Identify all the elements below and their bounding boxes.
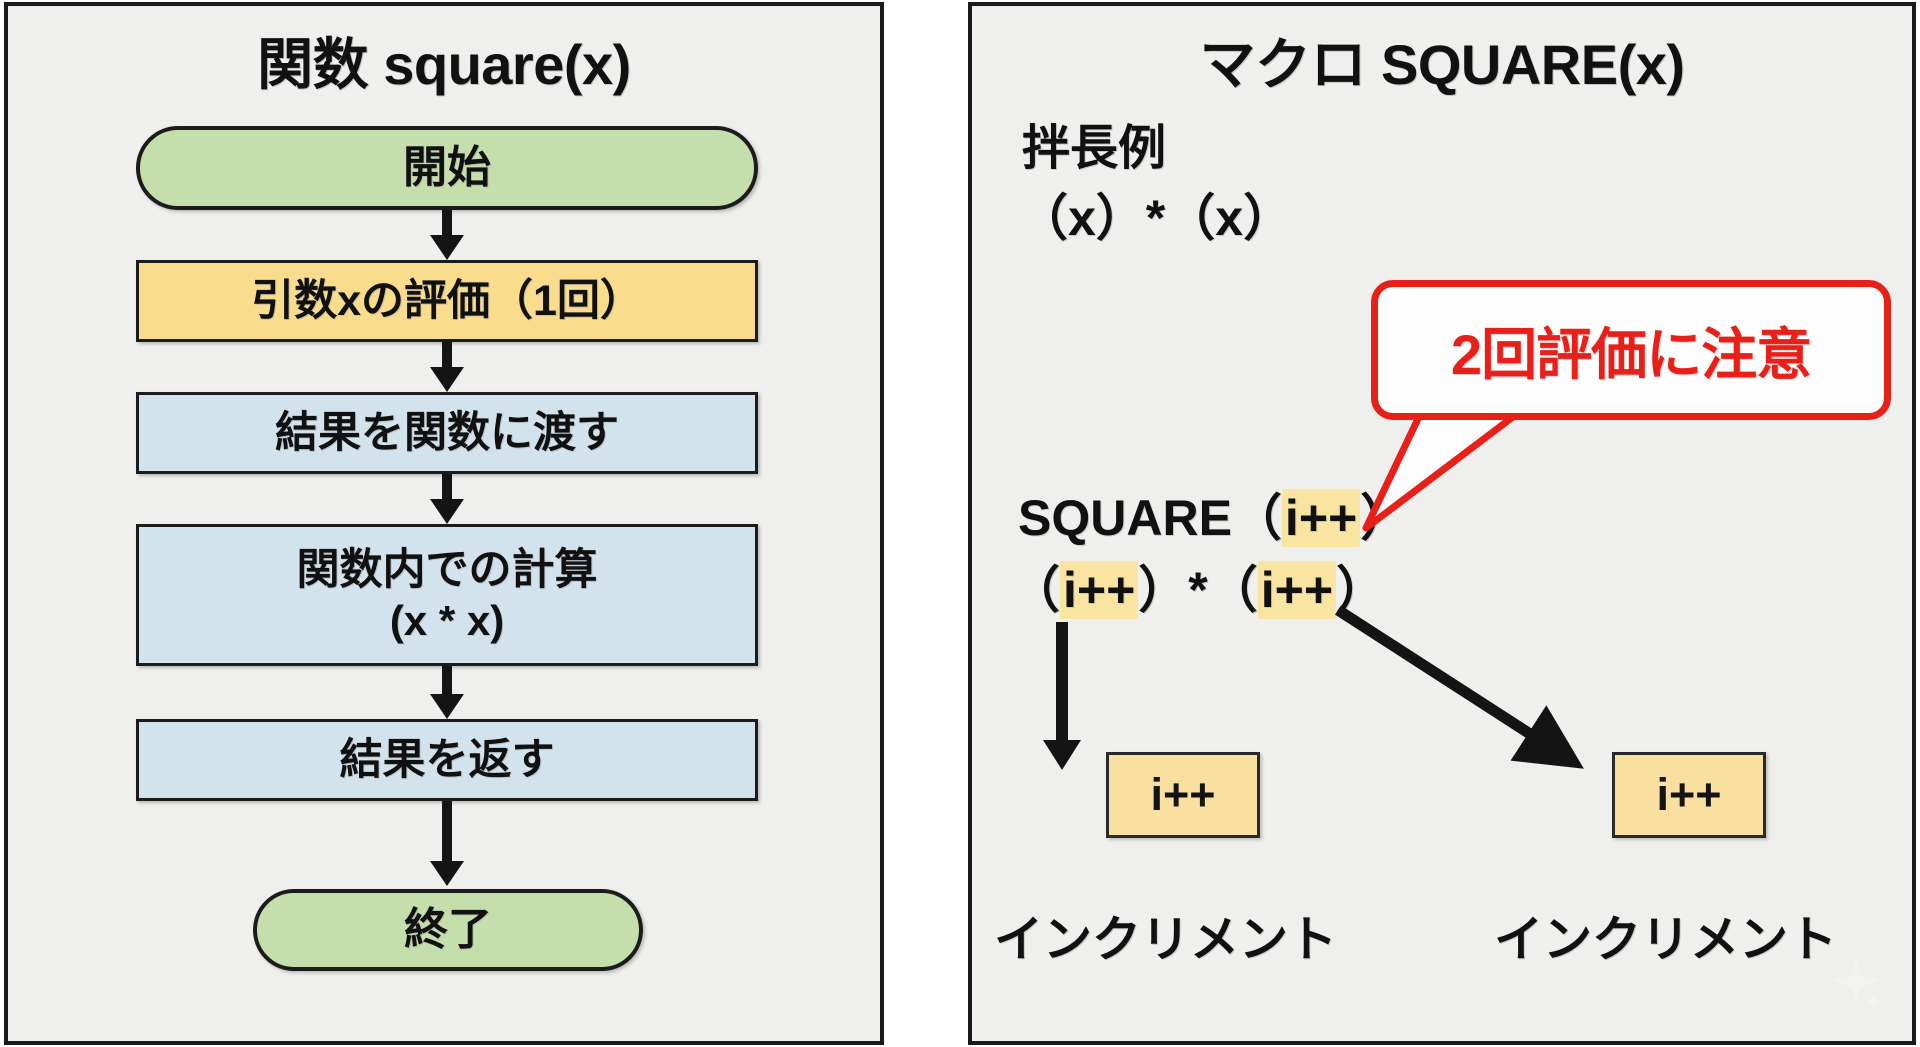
flow-node-start: 開始 [136,126,758,210]
increment-label-right: インクリメント [1494,900,1837,971]
flow-node-pass-to-function-label: 結果を関数に渡す [275,408,619,459]
increment-result-chip-left-label: i++ [1150,769,1215,821]
flow-node-return-result: 結果を返す [136,719,758,801]
increment-result-chip-left: i++ [1106,752,1260,838]
panel-title-function: 関数 square(x) [8,20,880,101]
verbose-example-expression: （x）*（x） [1018,178,1293,250]
expand-open-paren: （ [1010,562,1060,618]
flow-node-calculation-expression: (x * x) [390,596,504,646]
expand-token-a: i++ [1060,561,1138,619]
flow-node-start-label: 開始 [403,142,491,194]
flow-node-calculation: 関数内での計算 (x * x) [136,524,758,666]
macro-call-expression: SQUARE（i++） [1018,478,1410,550]
macro-call-suffix: ） [1360,490,1410,546]
expand-token-b: i++ [1258,561,1336,619]
verbose-example-label: 拌長例 [1022,108,1166,178]
increment-label-left: インクリメント [994,900,1337,971]
macro-call-prefix: SQUARE（ [1018,490,1282,546]
flow-node-pass-to-function: 結果を関数に渡す [136,392,758,474]
macro-call-token: i++ [1282,489,1360,547]
warning-callout-text: 2回評価に注意 [1451,310,1811,391]
diagram-canvas: 関数 square(x) 開始 引数xの評価（1回） 結果を関数に渡す [0,0,1920,1047]
sparkle-icon [1830,955,1882,1007]
flow-node-calculation-label: 関数内での計算 [297,545,598,596]
function-flow-panel: 関数 square(x) 開始 引数xの評価（1回） 結果を関数に渡す [4,2,884,1045]
warning-callout: 2回評価に注意 [1371,280,1891,420]
flow-node-end-label: 終了 [404,904,492,956]
panel-title-macro: マクロ SQUARE(x) [972,20,1912,101]
flow-node-evaluate-argument: 引数xの評価（1回） [136,260,758,342]
expand-middle: ）*（ [1138,562,1257,618]
flow-node-evaluate-argument-label: 引数xの評価（1回） [251,276,643,327]
flow-node-end: 終了 [253,889,643,971]
flow-node-return-result-label: 結果を返す [340,735,555,786]
increment-result-chip-right-label: i++ [1656,769,1721,821]
increment-result-chip-right: i++ [1612,752,1766,838]
